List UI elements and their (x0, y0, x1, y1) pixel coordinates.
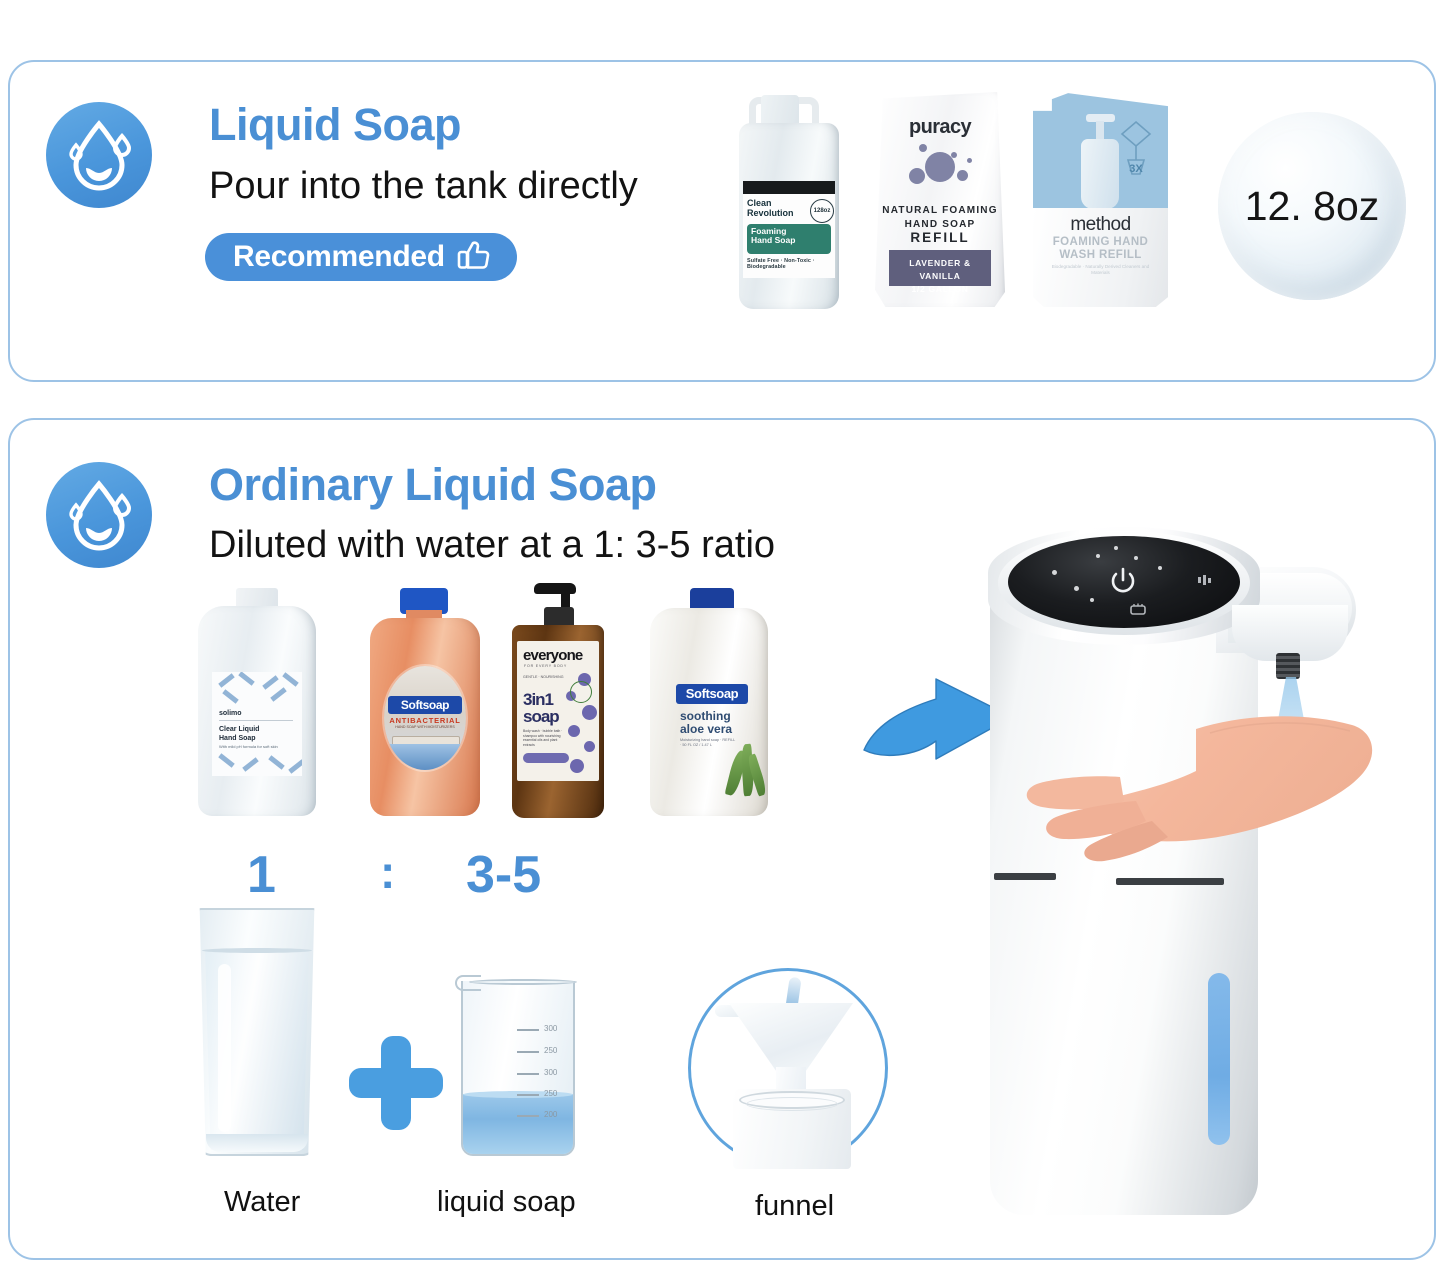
beaker-icon: 300 250 300 250 200 (455, 973, 581, 1156)
product-method: 3X method FOAMING HAND WASH REFILL Biode… (1033, 92, 1168, 307)
product-everyone-3in1-soap: everyone FOR EVERY BODY GENTLE · NOURISH… (512, 583, 604, 818)
brand-name: puracy (875, 116, 1005, 139)
label-tiny-text: GENTLE · NOURISHING (523, 675, 567, 680)
foam-level-icon[interactable] (1130, 602, 1146, 614)
capacity-bubble: 12. 8oz (1218, 112, 1406, 300)
product-clear-liquid-hand-soap: solimo Clear Liquid Hand Soap With mild … (198, 588, 316, 816)
variant-chip: LAVENDER & VANILLA 1/2 GALLON (889, 250, 991, 286)
desc-line-3: REFILL (910, 230, 969, 245)
funnel-icon (688, 968, 888, 1168)
beaker-graduation-250-upper: 250 (544, 1046, 557, 1055)
product-softsoap-antibacterial: Softsoap ANTIBACTERIAL HAND SOAP WITH MO… (370, 588, 480, 816)
product-variant-label: Foaming Hand Soap (747, 224, 831, 254)
product-description: FOAMING HAND WASH REFILL (1033, 236, 1168, 262)
recommended-badge: Recommended (205, 233, 517, 281)
caption-funnel: funnel (755, 1190, 834, 1223)
ratio-right-value: 3-5 (466, 845, 541, 905)
soap-dispenser-device (960, 505, 1360, 1225)
product-clean-revolution: Clean Revolution 128oz Foaming Hand Soap… (735, 95, 845, 310)
glass-of-water-icon (196, 908, 318, 1156)
bottle-label: solimo Clear Liquid Hand Soap With mild … (212, 672, 302, 776)
beaker-graduation-250-lower: 250 (544, 1089, 557, 1098)
label-description: Body wash · bubble bath · shampoo with n… (523, 729, 569, 747)
brand-name: Softsoap (676, 684, 748, 704)
name-line-2: Hand Soap (219, 735, 256, 742)
product-variant: soothing aloe vera (680, 710, 732, 736)
page-title: Liquid Soap (209, 99, 461, 151)
label-fine-print: Biodegradable · Naturally Derived Cleane… (1051, 264, 1150, 276)
desc-line-1: FOAMING HAND (1053, 236, 1149, 248)
label-wave-graphic (384, 744, 466, 770)
product-puracy: puracy NATURAL FOAMING HAND SOAP REFILL … (875, 92, 1005, 307)
thumbs-up-icon (457, 239, 491, 276)
brand-name: solimo (219, 710, 242, 717)
desc-line-2: WASH REFILL (1059, 249, 1141, 261)
volume-icon[interactable] (1198, 572, 1214, 582)
pump-head (534, 583, 582, 629)
product-description: NATURAL FOAMING HAND SOAP REFILL (875, 204, 1005, 247)
pump-illustration (1079, 114, 1121, 209)
product-name: Clear Liquid Hand Soap (219, 725, 259, 743)
desc-line-2: HAND SOAP (905, 219, 976, 230)
touch-control-panel[interactable] (1008, 536, 1240, 628)
label-fine-print: With mild pH formula for soft skin (219, 744, 278, 749)
chip-line-2: 1/2 GALLON (911, 284, 968, 294)
brand-line-2: Revolution (747, 208, 794, 218)
brand-name: Clean Revolution (747, 199, 807, 218)
capacity-value: 12. 8oz (1245, 183, 1380, 230)
section-subtitle: Diluted with water at a 1: 3-5 ratio (209, 524, 775, 567)
dispenser-nozzle (1276, 653, 1300, 679)
variant-line-2: Hand Soap (751, 235, 795, 245)
funnel-cone (729, 1003, 853, 1071)
aloe-leaf-graphic (724, 740, 766, 798)
water-drop-icon (46, 102, 152, 208)
name-line-1: Clear Liquid (219, 726, 259, 733)
brand-name: Softsoap (388, 696, 462, 714)
three-x-text: 3X (1129, 163, 1143, 175)
ratio-left-value: 1 (247, 845, 276, 905)
plus-icon (349, 1036, 443, 1130)
hand-illustration (1000, 681, 1380, 871)
variant-line-2: aloe vera (680, 722, 732, 736)
size-badge: 128oz (810, 199, 834, 223)
product-variant: ANTIBACTERIAL (388, 716, 462, 725)
three-x-badge-icon: 3X (1116, 120, 1156, 178)
bottle-label: Softsoap ANTIBACTERIAL HAND SOAP WITH MO… (384, 666, 466, 770)
label-top-band (743, 181, 835, 194)
power-icon[interactable] (1108, 566, 1138, 596)
product-softsoap-aloe: Softsoap soothing aloe vera Moisturizing… (650, 588, 768, 816)
dispenser-tank-opening (733, 1089, 851, 1169)
brand-name: method (1033, 214, 1168, 236)
recommended-label: Recommended (233, 240, 445, 274)
desc-line-1: NATURAL FOAMING (882, 205, 997, 216)
brand-name: everyone (523, 647, 582, 664)
bottle-label: everyone FOR EVERY BODY GENTLE · NOURISH… (517, 641, 599, 781)
label-divider (219, 720, 293, 721)
beaker-graduation-300-mid: 300 (544, 1068, 557, 1077)
ratio-separator: : (380, 845, 395, 899)
brand-line-1: Clean (747, 198, 772, 208)
caption-water: Water (224, 1186, 300, 1219)
leaf-seal-icon (570, 681, 592, 703)
label-pill-graphic (523, 753, 569, 763)
section-title: Ordinary Liquid Soap (209, 459, 657, 511)
label-footer: Sulfate Free · Non-Toxic · Biodegradable (747, 258, 831, 270)
section-subtitle: Pour into the tank directly (209, 165, 638, 208)
product-name: 3in1 soap (523, 691, 559, 725)
beaker-graduation-300-top: 300 (544, 1024, 557, 1033)
dispenser-seam (990, 873, 1258, 885)
bubble-artwork (905, 144, 975, 200)
name-line-2: soap (523, 707, 559, 726)
label-fine-print: HAND SOAP WITH MOISTURIZERS (394, 725, 456, 730)
soap-level-indicator (1208, 973, 1230, 1145)
chip-line-1: LAVENDER & VANILLA (909, 258, 971, 281)
water-drop-icon (46, 462, 152, 568)
caption-liquid-soap: liquid soap (437, 1186, 576, 1219)
beaker-graduation-200: 200 (544, 1110, 557, 1119)
brand-tagline: FOR EVERY BODY (524, 664, 567, 668)
variant-line-1: soothing (680, 709, 731, 723)
